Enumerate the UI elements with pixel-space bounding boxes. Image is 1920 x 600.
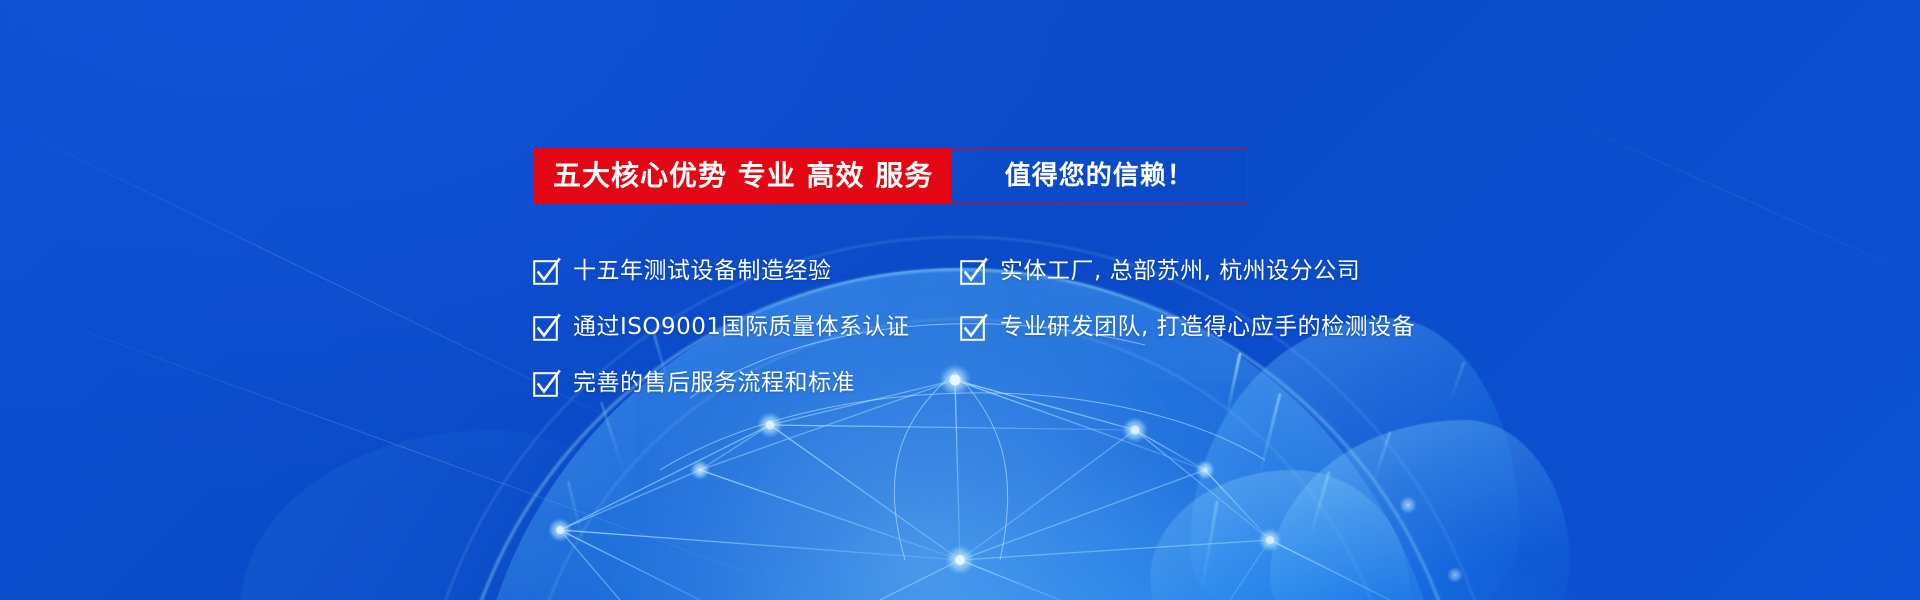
light-streak — [1225, 352, 1241, 415]
check-box-icon — [960, 258, 987, 285]
light-streak — [1257, 393, 1281, 479]
check-box-icon — [960, 314, 987, 341]
feature-label: 通过ISO9001国际质量体系认证 — [573, 316, 910, 339]
feature-item: 十五年测试设备制造经验 — [533, 243, 910, 299]
feature-column-right: 实体工厂, 总部苏州, 杭州设分公司 专业研发团队, 打造得心应手的检测设备 — [960, 243, 1415, 355]
wave-shape-c — [1150, 470, 1410, 600]
feature-label: 完善的售后服务流程和标准 — [573, 372, 855, 395]
wave-shape-b — [1270, 420, 1570, 600]
headline-trust-label: 值得您的信赖！ — [951, 148, 1248, 204]
check-box-icon — [533, 314, 560, 341]
feature-label: 实体工厂, 总部苏州, 杭州设分公司 — [1000, 260, 1360, 283]
headline-red-label: 五大核心优势 专业 高效 服务 — [533, 148, 951, 204]
light-streak — [1308, 471, 1330, 539]
feature-item: 专业研发团队, 打造得心应手的检测设备 — [960, 299, 1415, 355]
feature-label: 十五年测试设备制造经验 — [573, 260, 832, 283]
feature-column-left: 十五年测试设备制造经验 通过ISO9001国际质量体系认证 — [533, 243, 910, 411]
feature-item: 完善的售后服务流程和标准 — [533, 355, 910, 411]
hero-banner: 五大核心优势 专业 高效 服务 值得您的信赖！ 十五年测试设备制造经验 — [0, 0, 1920, 600]
feature-item: 实体工厂, 总部苏州, 杭州设分公司 — [960, 243, 1415, 299]
feature-label: 专业研发团队, 打造得心应手的检测设备 — [1000, 316, 1415, 339]
wave-shape-left — [240, 430, 660, 600]
check-box-icon — [533, 258, 560, 285]
light-streak — [1447, 361, 1466, 405]
diagonal-guide — [1500, 90, 1920, 302]
check-box-icon — [533, 370, 560, 397]
light-streak — [1200, 500, 1219, 589]
headline-bar: 五大核心优势 专业 高效 服务 值得您的信赖！ — [533, 148, 1248, 204]
wave-shape-a — [1190, 318, 1520, 600]
light-streak — [600, 401, 628, 478]
light-streak — [567, 481, 587, 550]
light-streak — [1371, 431, 1391, 485]
feature-item: 通过ISO9001国际质量体系认证 — [533, 299, 910, 355]
